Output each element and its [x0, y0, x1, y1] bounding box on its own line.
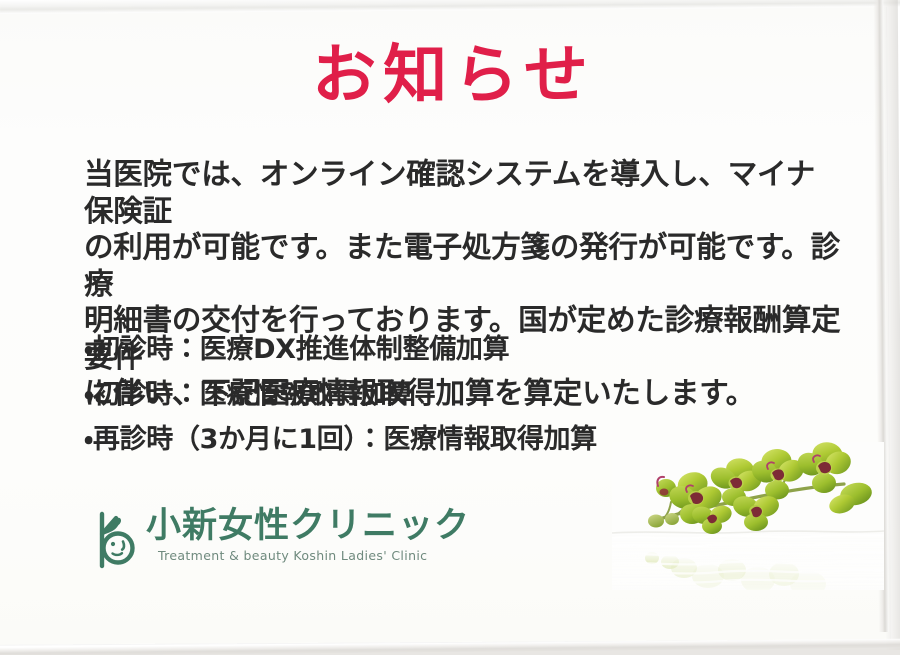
clinic-logo: 小新女性クリニック Treatment & beauty Koshin Ladi…	[92, 506, 470, 570]
clinic-logo-text: 小新女性クリニック Treatment & beauty Koshin Ladi…	[146, 506, 470, 563]
clinic-tagline: Treatment & beauty Koshin Ladies' Clinic	[146, 548, 470, 563]
notice-content: お知らせ 当医院では、オンライン確認システムを導入し、マイナ保険証 の利用が可能…	[0, 0, 900, 655]
scanned-notice-page: お知らせ 当医院では、オンライン確認システムを導入し、マイナ保険証 の利用が可能…	[0, 0, 900, 655]
surcharge-list: ・初診時：医療DX推進体制整備加算 ・初診時：医療情報取得加算 ・再診時（3か月…	[84, 336, 844, 453]
clinic-name: 小新女性クリニック	[146, 506, 470, 546]
list-item: ・初診時：医療DX推進体制整備加算	[84, 336, 844, 363]
list-item: ・初診時：医療情報取得加算	[84, 381, 844, 408]
page-title: お知らせ	[0, 44, 900, 108]
koshin-leaf-face-mark-icon	[92, 508, 140, 570]
green-orchid-photo	[612, 442, 884, 590]
